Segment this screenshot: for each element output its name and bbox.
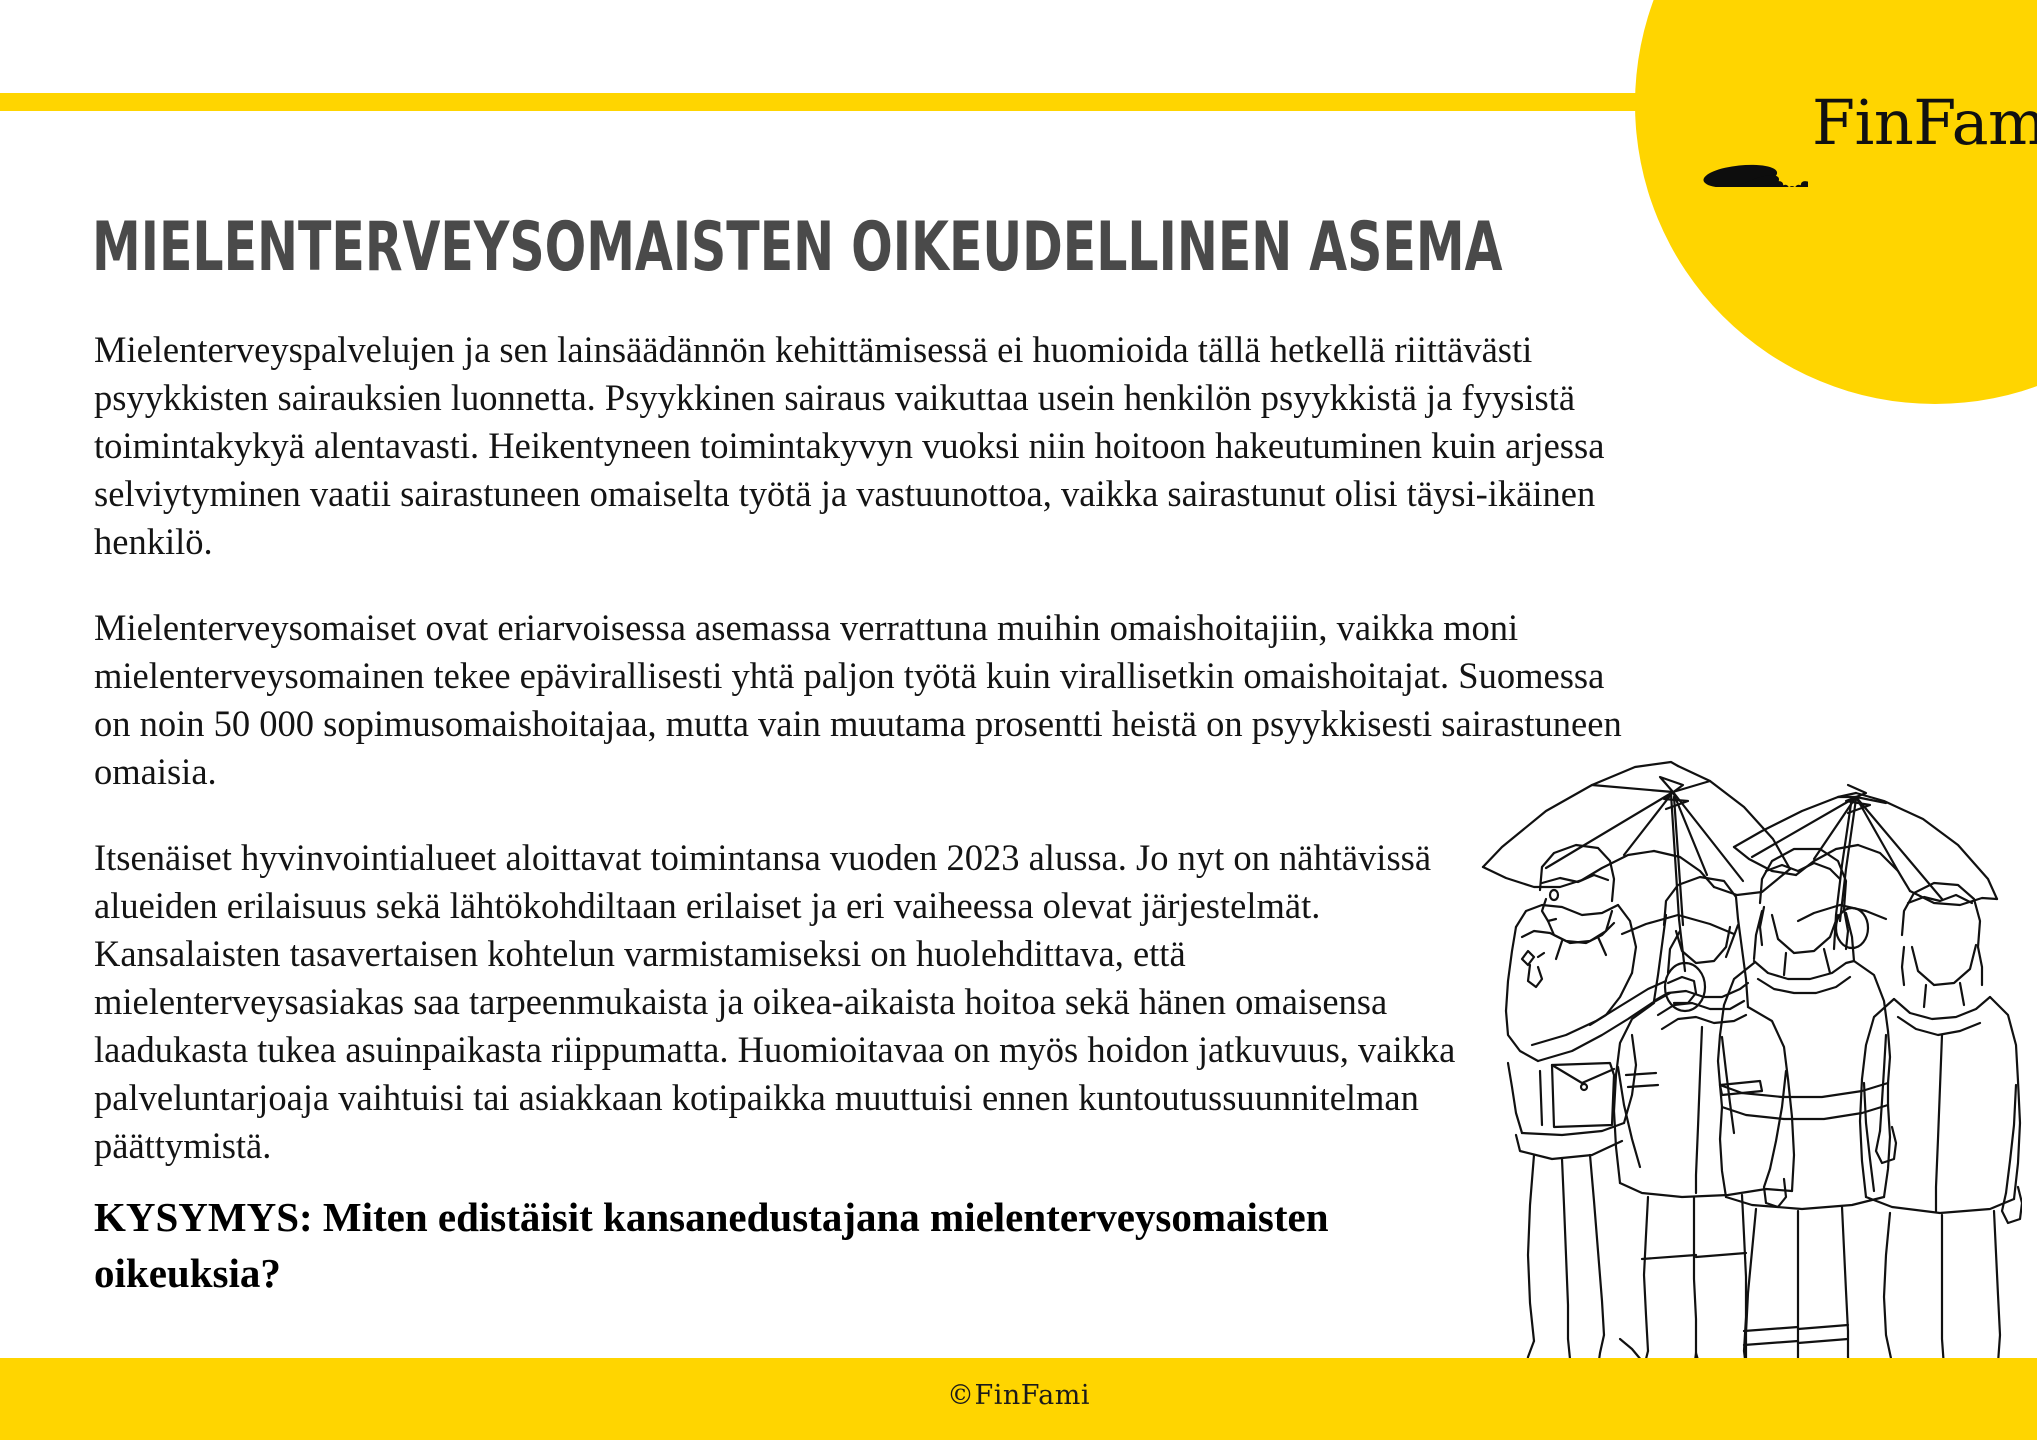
page-title: MIELENTERVEYSOMAISTEN OIKEUDELLINEN ASEM… <box>92 214 1122 282</box>
footer-bar: ©FinFami <box>0 1358 2037 1440</box>
paragraph-1: Mielenterveyspalvelujen ja sen lainsäädä… <box>94 326 1649 566</box>
sunflower-petals-icon <box>1680 59 1808 187</box>
finfami-logo: FinFami <box>1680 55 2010 190</box>
paragraph-2: Mielenterveysomaiset ovat eriarvoisessa … <box>94 604 1649 796</box>
four-people-with-umbrellas-line-drawing <box>1442 735 2022 1380</box>
article-body: Mielenterveyspalvelujen ja sen lainsäädä… <box>94 326 1649 1208</box>
question-text: KYSYMYS: Miten edistäisit kansanedustaja… <box>94 1189 1344 1301</box>
logo-wordmark: FinFami <box>1812 92 2037 154</box>
paragraph-3: Itsenäiset hyvinvointialueet aloittavat … <box>94 834 1494 1170</box>
top-accent-rule <box>0 93 1660 111</box>
footer-copyright: ©FinFami <box>0 1380 2037 1411</box>
